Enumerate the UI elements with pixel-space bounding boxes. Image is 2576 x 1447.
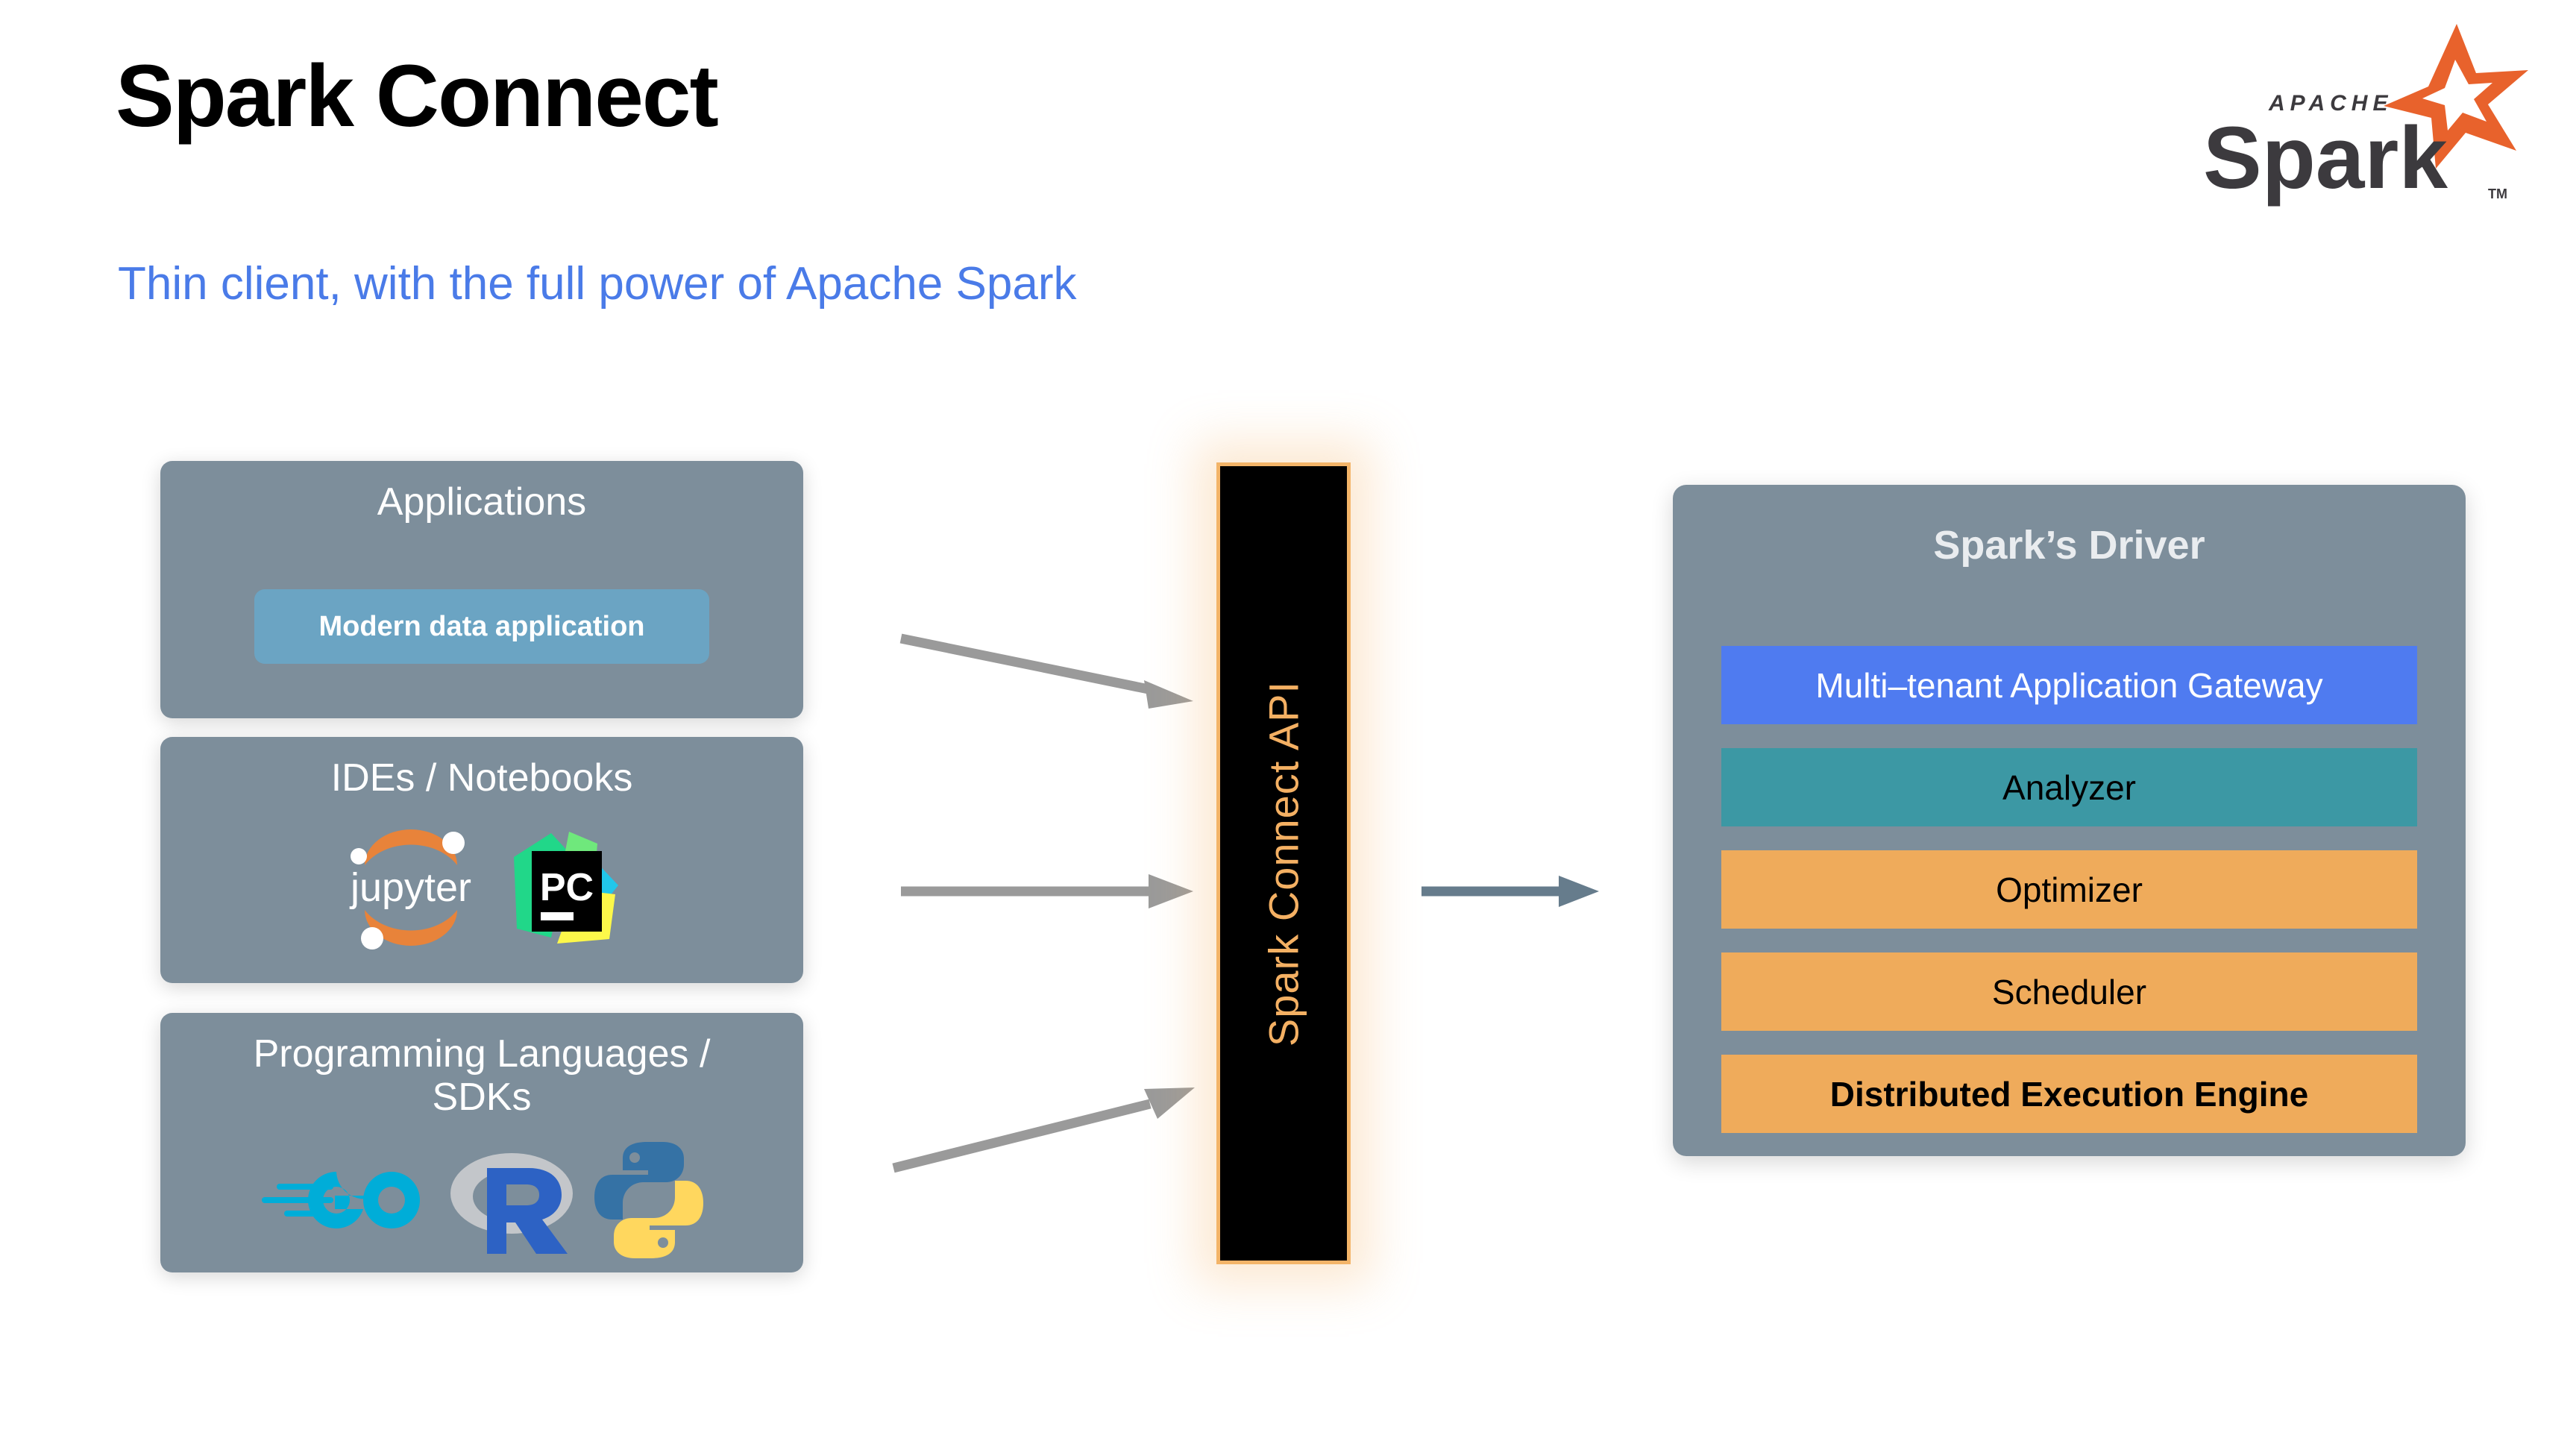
spark-driver-row-list: Multi–tenant Application Gateway Analyze… [1721, 646, 2417, 1157]
jupyter-wordmark: jupyter [348, 865, 471, 910]
client-box-applications-title: Applications [160, 461, 803, 524]
driver-row-multi-tenant-application-gateway[interactable]: Multi–tenant Application Gateway [1721, 646, 2417, 724]
page-subtitle: Thin client, with the full power of Apac… [118, 261, 1076, 307]
spark-driver-title: Spark’s Driver [1673, 485, 2466, 568]
apache-spark-logo: APACHE Spark TM [2143, 15, 2531, 216]
python-lower-coil [614, 1181, 703, 1258]
jupyter-dot-topright [442, 832, 465, 854]
driver-row-label: Optimizer [1996, 873, 2143, 907]
ides-logo-row: jupyter PC [160, 820, 803, 953]
python-upper-coil [594, 1142, 684, 1220]
client-box-applications[interactable]: Applications Modern data application [160, 461, 803, 718]
go-logo [259, 1155, 430, 1245]
arrow-api-to-driver [1417, 865, 1603, 917]
modern-data-application-label: Modern data application [318, 611, 644, 643]
jupyter-dot-left [351, 848, 367, 864]
langs-title-line1: Programming Languages / [254, 1032, 711, 1076]
arrow-languages-to-api [888, 1067, 1208, 1178]
modern-data-application-chip[interactable]: Modern data application [254, 589, 709, 664]
jupyter-logo: jupyter [336, 820, 486, 953]
driver-row-analyzer[interactable]: Analyzer [1721, 748, 2417, 826]
driver-row-distributed-execution-engine[interactable]: Distributed Execution Engine [1721, 1055, 2417, 1133]
driver-row-optimizer[interactable]: Optimizer [1721, 850, 2417, 929]
page-title: Spark Connect [116, 52, 717, 140]
spark-connect-api-bar[interactable]: Spark Connect API [1216, 462, 1351, 1264]
driver-row-scheduler[interactable]: Scheduler [1721, 952, 2417, 1031]
r-logo [441, 1137, 582, 1264]
r-letter [487, 1168, 568, 1254]
logo-trademark-text: TM [2488, 186, 2507, 201]
client-box-ides-notebooks-title: IDEs / Notebooks [160, 737, 803, 800]
driver-row-label: Distributed Execution Engine [1830, 1077, 2309, 1111]
python-logo [593, 1137, 705, 1263]
driver-row-label: Analyzer [2002, 770, 2136, 805]
jupyter-dot-bottom [361, 927, 383, 950]
pycharm-underscore-bar [541, 912, 574, 920]
languages-logo-row [160, 1137, 803, 1264]
langs-title-line2: SDKs [433, 1076, 532, 1119]
driver-row-label: Multi–tenant Application Gateway [1815, 668, 2322, 703]
arrow-ides-to-api [895, 865, 1208, 917]
spark-connect-api-label: Spark Connect API [1260, 680, 1308, 1046]
pycharm-logo: PC [505, 826, 628, 949]
driver-row-label: Scheduler [1992, 975, 2146, 1009]
pycharm-pc-text: PC [539, 866, 593, 909]
client-box-ides-notebooks[interactable]: IDEs / Notebooks jupyter PC [160, 737, 803, 983]
spark-driver-panel[interactable]: Spark’s Driver Multi–tenant Application … [1673, 485, 2466, 1156]
client-box-programming-languages[interactable]: Programming Languages / SDKs [160, 1013, 803, 1272]
arrow-applications-to-api [895, 627, 1208, 716]
client-box-programming-languages-title: Programming Languages / SDKs [160, 1013, 803, 1119]
logo-spark-text: Spark [2203, 109, 2448, 207]
go-letter-o-inner [378, 1187, 405, 1214]
apache-spark-logo-svg: APACHE Spark TM [2143, 15, 2531, 216]
